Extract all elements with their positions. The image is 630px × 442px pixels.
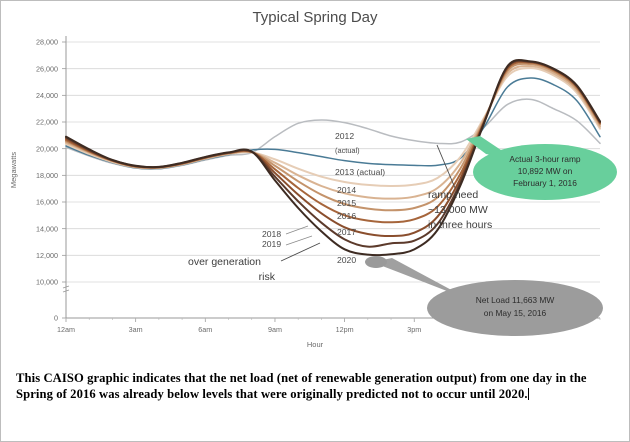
series-label-2013: 2013 (actual) [335,167,385,177]
x-axis-title: Hour [307,340,324,349]
series-label-2014: 2014 [337,185,356,195]
y-axis-tick-label: 0 [54,314,58,323]
series-label-2015: 2015 [337,198,356,208]
y-axis-tick-label: 16,000 [36,198,58,207]
callout-actual-ramp: Actual 3-hour ramp 10,892 MW on February… [466,136,617,200]
x-axis-tick-label: 12am [57,325,75,334]
series-label-2012: 2012 [335,131,354,141]
ramp-need-line2: ~13,000 MW [428,204,488,216]
series-label-2012-actual: (actual) [335,146,360,155]
y-axis-tick-label: 12,000 [36,251,58,260]
series-label-2019: 2019 [262,239,281,249]
x-axis-tick-label: 12pm [336,325,354,334]
series-line-2017 [66,62,600,222]
y-axis-tick-label: 14,000 [36,224,58,233]
y-axis-tick-label: 26,000 [36,64,58,73]
annotation-over-generation-risk: over generation risk [188,243,320,283]
y-axis-title: Megawatts [9,152,18,189]
y-axis-tick-label: 24,000 [36,91,58,100]
duck-curve-chart: Typical Spring Day Megawatts 010,00012,0… [0,0,630,358]
series-label-2020: 2020 [337,255,356,265]
chart-title: Typical Spring Day [252,9,378,26]
series-label-2018-leader [286,226,308,234]
chart-region: Typical Spring Day Megawatts 010,00012,0… [0,0,630,358]
over-generation-risk-line1: over generation [188,256,261,268]
series-label-2017: 2017 [337,227,356,237]
x-axis-tick-label: 3pm [407,325,421,334]
series-label-2018: 2018 [262,229,281,239]
y-axis-tick-label: 22,000 [36,118,58,127]
x-axis-tick-label: 9am [268,325,282,334]
y-axis-tick-label: 10,000 [36,278,58,287]
y-axis-tick-labels: 010,00012,00014,00016,00018,00020,00022,… [36,38,66,323]
x-axis-tick-label: 3am [129,325,143,334]
net-load-callout-anchor-dot [365,256,387,268]
over-generation-risk-line2: risk [259,271,276,283]
ramp-need-line1: ramp need [428,189,478,201]
figure-caption-text: This CAISO graphic indicates that the ne… [16,371,587,401]
actual-ramp-callout-line1: Actual 3-hour ramp [509,154,581,164]
x-axis-tick-label: 6am [198,325,212,334]
net-load-callout-line1: Net Load 11,663 MW [476,295,555,305]
net-load-callout-line2: on May 15, 2016 [484,308,547,318]
y-axis-tick-label: 20,000 [36,144,58,153]
series-label-2019-leader [286,236,312,245]
y-axis-tick-label: 28,000 [36,38,58,47]
screenshot-page: Typical Spring Day Megawatts 010,00012,0… [0,0,630,442]
y-axis-tick-label: 18,000 [36,171,58,180]
ramp-need-line3: in three hours [428,219,492,231]
actual-ramp-callout-line3: February 1, 2016 [513,178,577,188]
actual-ramp-callout-line2: 10,892 MW on [518,166,573,176]
callout-net-load: Net Load 11,663 MW on May 15, 2016 [365,256,603,336]
text-cursor-caret [528,388,529,400]
series-label-2016: 2016 [337,211,356,221]
figure-caption: This CAISO graphic indicates that the ne… [0,360,630,442]
over-generation-leader-line [281,243,320,261]
